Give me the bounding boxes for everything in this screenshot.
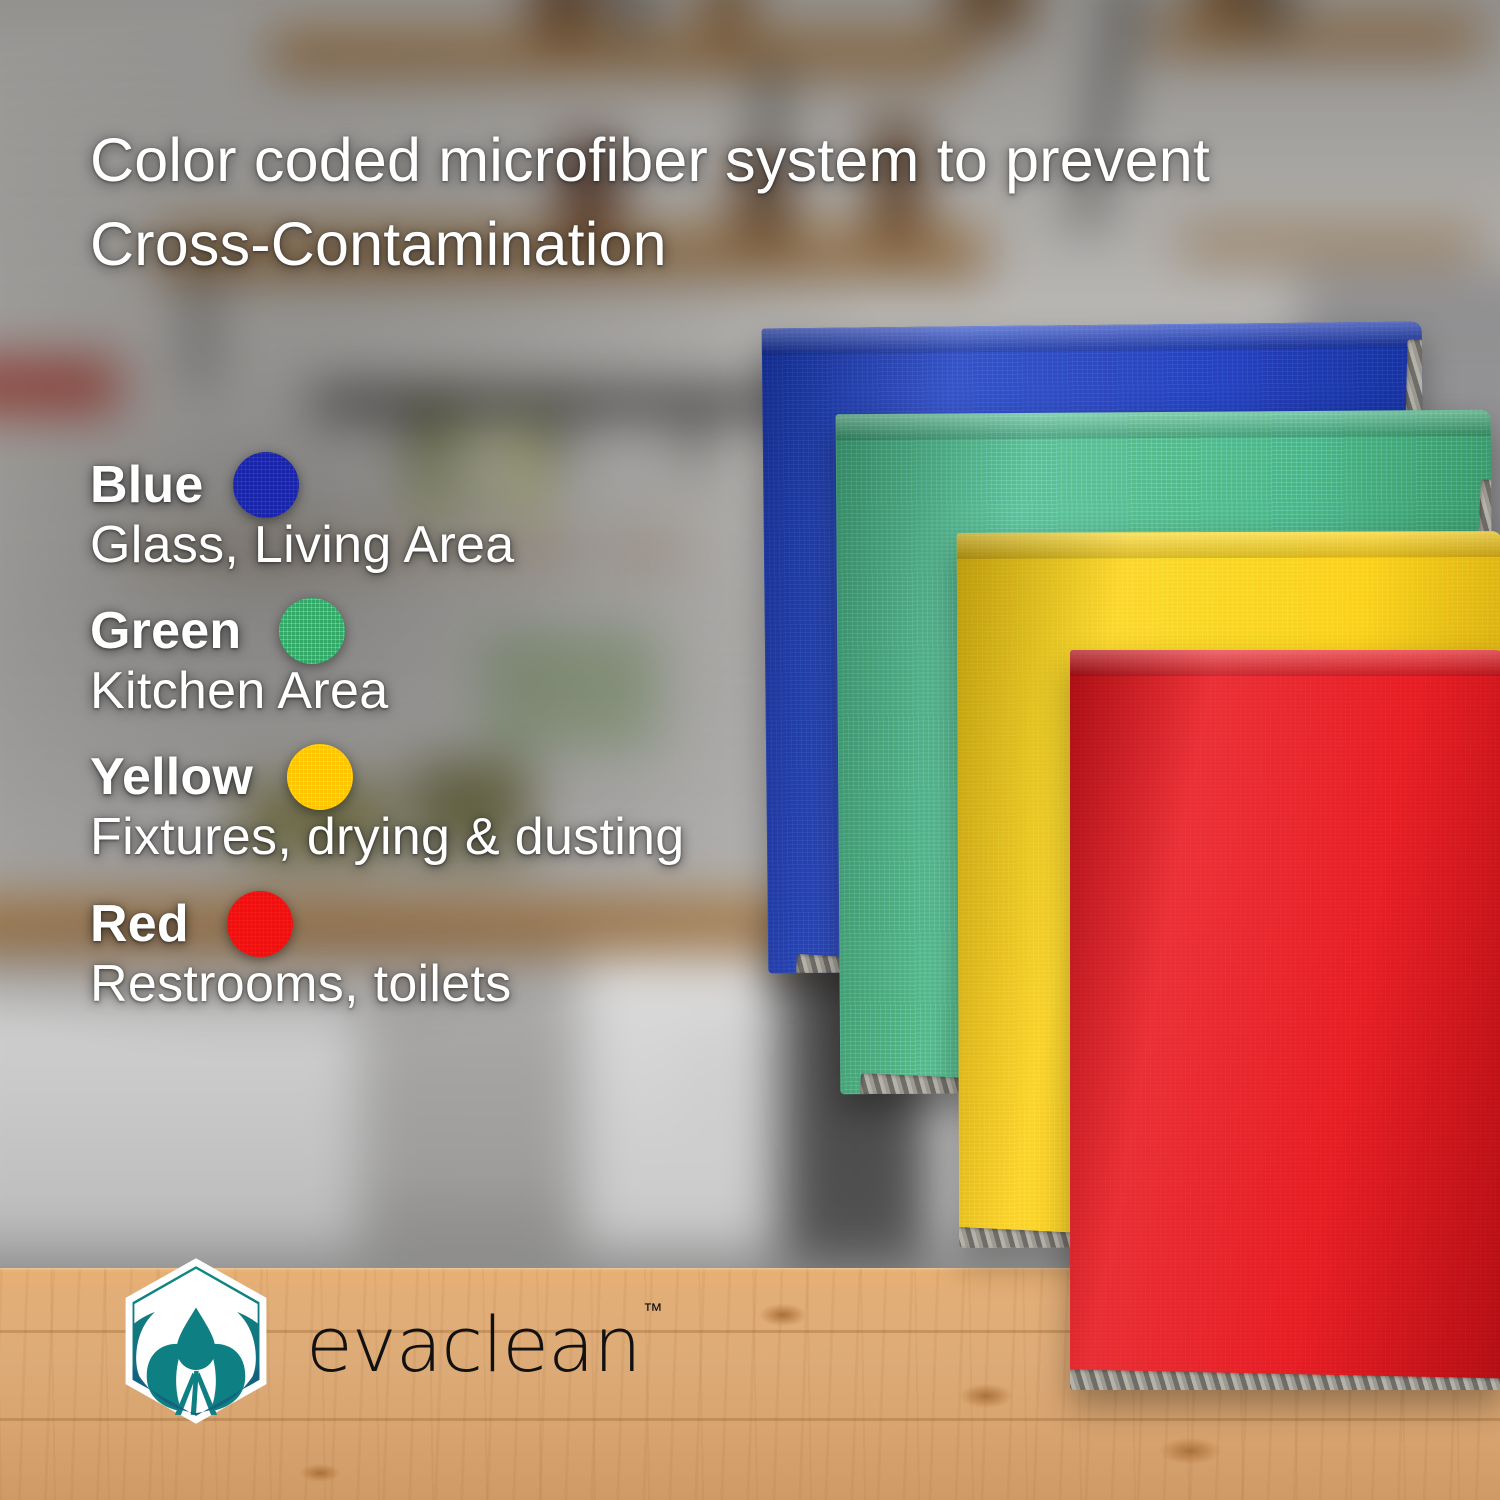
legend-item-blue: Blue Glass, Living Area [90, 452, 850, 576]
headline-line-1: Color coded microfiber system to prevent [90, 118, 1420, 202]
brand-logo: evaclean™ [108, 1253, 661, 1429]
legend-color-description: Restrooms, toilets [90, 955, 850, 1015]
headline-line-2: Cross-Contamination [90, 202, 1420, 286]
green-color-dot [279, 598, 345, 664]
legend-item-header: Yellow [90, 744, 850, 810]
legend-color-description: Kitchen Area [90, 662, 850, 722]
legend-item-header: Green [90, 598, 850, 664]
trademark-symbol: ™ [643, 1298, 663, 1322]
evaclean-hexagon-leaf-droplet-logo [108, 1253, 284, 1429]
legend-item-header: Blue [90, 452, 850, 518]
overlay-content: Color coded microfiber system to prevent… [0, 0, 1500, 1500]
legend-color-name: Green [90, 603, 241, 659]
color-code-legend: Blue Glass, Living Area Green Kitchen Ar… [90, 452, 850, 1037]
product-infographic: Color coded microfiber system to prevent… [0, 0, 1500, 1500]
legend-color-description: Glass, Living Area [90, 516, 850, 576]
page-title: Color coded microfiber system to prevent… [90, 118, 1420, 286]
red-color-dot [227, 891, 293, 957]
legend-item-header: Red [90, 891, 850, 957]
legend-item-yellow: Yellow Fixtures, drying & dusting [90, 744, 850, 868]
legend-color-description: Fixtures, drying & dusting [90, 808, 850, 868]
legend-item-red: Red Restrooms, toilets [90, 891, 850, 1015]
legend-color-name: Red [90, 896, 189, 952]
brand-wordmark: evaclean™ [306, 1307, 661, 1383]
blue-color-dot [233, 452, 299, 518]
brand-name-text: evaclean [306, 1300, 641, 1389]
legend-color-name: Yellow [90, 749, 253, 805]
legend-color-name: Blue [90, 457, 203, 513]
yellow-color-dot [287, 744, 353, 810]
legend-item-green: Green Kitchen Area [90, 598, 850, 722]
